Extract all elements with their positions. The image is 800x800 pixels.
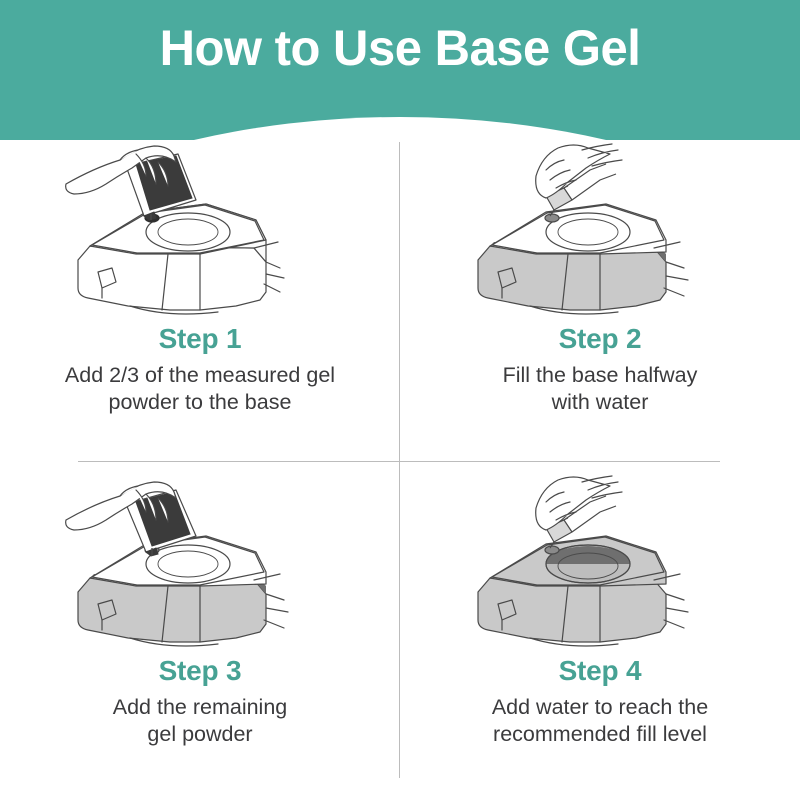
step-label-2: Step 2 (559, 322, 642, 356)
step-3-illustration (50, 474, 350, 650)
step-label-1: Step 1 (159, 322, 242, 356)
step-description-3: Add the remaining gel powder (20, 694, 380, 748)
step-description-2: Fill the base halfway with water (420, 362, 780, 416)
how-to-use-base-gel-poster: How to Use Base Gel (0, 0, 800, 800)
header-curve-decoration (0, 117, 800, 140)
step-2-illustration (450, 142, 750, 318)
step-description-1: Add 2/3 of the measured gel powder to th… (20, 362, 380, 416)
step-card-1: Step 1 Add 2/3 of the measured gel powde… (0, 140, 400, 462)
step-4-illustration (450, 474, 750, 650)
page-title: How to Use Base Gel (8, 19, 792, 77)
step-card-4: Step 4 Add water to reach the recommende… (400, 462, 800, 784)
header-banner: How to Use Base Gel (0, 0, 800, 140)
steps-grid: Step 1 Add 2/3 of the measured gel powde… (0, 140, 800, 800)
step-label-3: Step 3 (159, 654, 242, 688)
step-card-2: Step 2 Fill the base halfway with water (400, 140, 800, 462)
step-card-3: Step 3 Add the remaining gel powder (0, 462, 400, 784)
step-1-illustration (50, 142, 350, 318)
step-description-4: Add water to reach the recommended fill … (420, 694, 780, 748)
step-label-4: Step 4 (559, 654, 642, 688)
